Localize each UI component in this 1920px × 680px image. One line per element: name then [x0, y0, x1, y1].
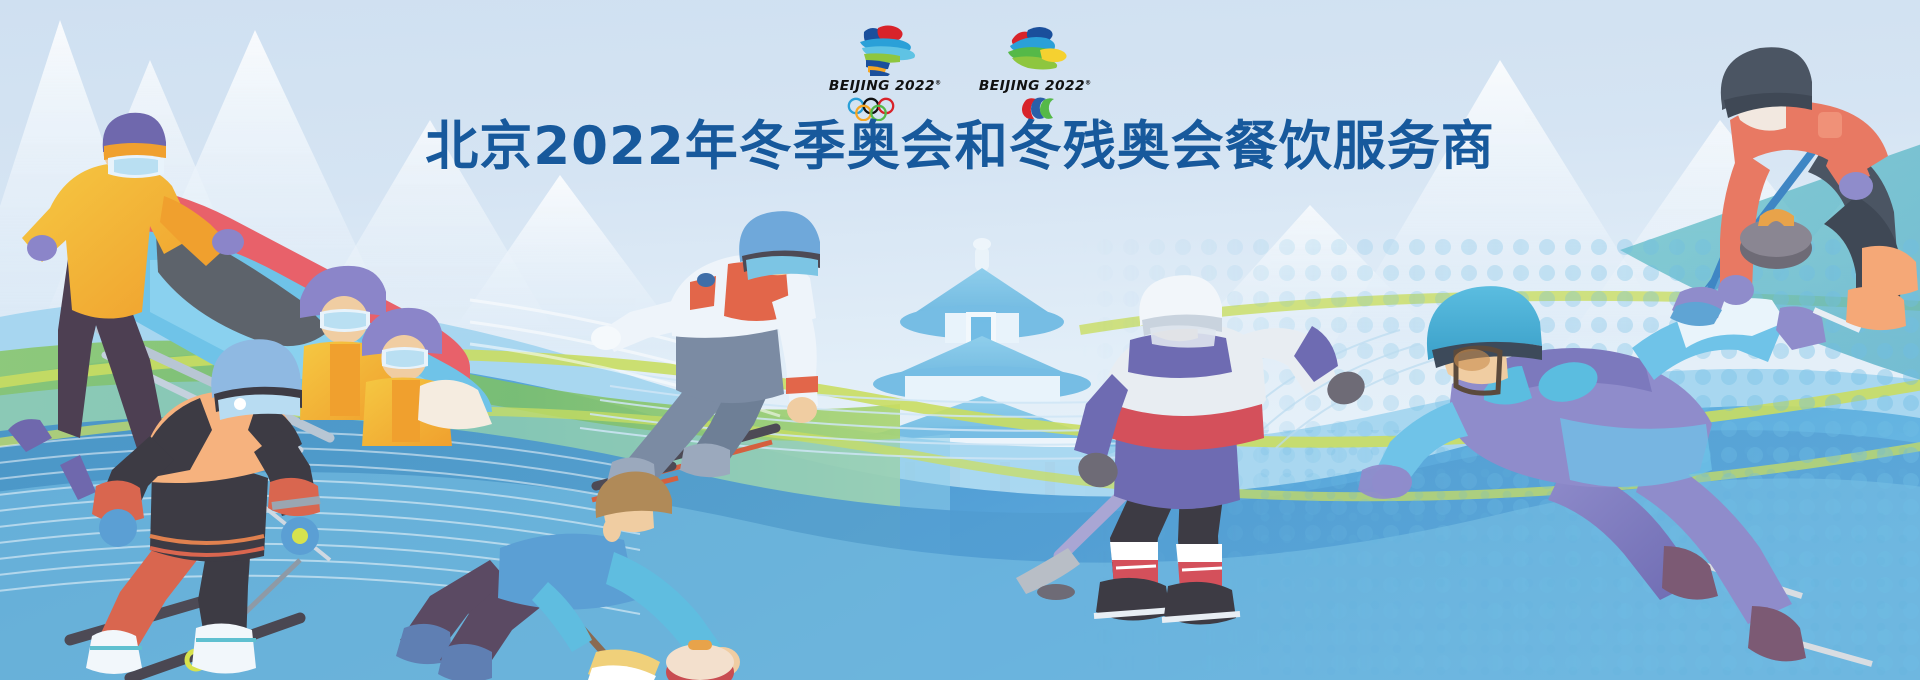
athlete-cross-country-skier: [70, 339, 330, 678]
paralympic-logo: BEIJING 2022®: [983, 24, 1087, 121]
olympics-catering-banner: BEIJING 2022® BEIJING 2022®: [0, 0, 1920, 680]
beijing-2022-paralympic-emblem-icon: [998, 24, 1072, 76]
athlete-secondary-sweeper: [1358, 464, 1406, 498]
athlete-speed-skater: [1372, 286, 1872, 664]
curling-stone-center: [666, 640, 734, 680]
olympic-logo: BEIJING 2022®: [833, 24, 937, 121]
athlete-curler-delivery: [396, 472, 740, 680]
beijing-2022-olympic-emblem-icon: [848, 24, 922, 76]
paralympic-logo-wordmark: BEIJING 2022®: [979, 80, 1092, 94]
page-title: 北京2022年冬季奥会和冬残奥会餐饮服务商: [0, 118, 1920, 176]
olympic-logo-wordmark: BEIJING 2022®: [829, 80, 942, 94]
athlete-ice-hockey-player: [1016, 275, 1369, 624]
logo-row: BEIJING 2022® BEIJING 2022®: [0, 24, 1920, 121]
athlete-short-track-skater: [591, 211, 820, 500]
